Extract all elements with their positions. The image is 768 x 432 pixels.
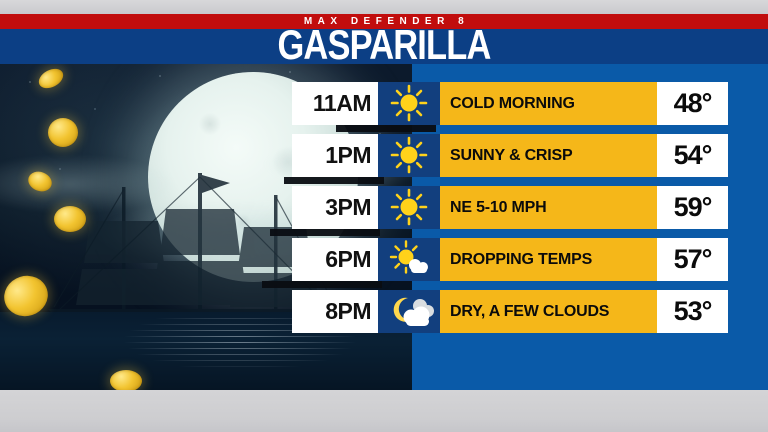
gold-coin [110,370,142,390]
forecast-row: 6PM DROPPING TEMPS 57° [292,238,728,281]
row-temperature: 48° [657,82,728,125]
sunny-icon [378,82,440,125]
row-temperature: 57° [657,238,728,281]
row-shadow [270,229,380,236]
row-description: NE 5-10 MPH [440,186,657,229]
row-icon-cell [378,82,440,125]
forecast-row: 1PM SUNNY & CRISP 54° [292,134,728,177]
gold-coin [48,118,78,147]
page-title: GASPARILLA [69,23,699,67]
row-description: DROPPING TEMPS [440,238,657,281]
row-icon-cell [378,290,440,333]
row-time: 8PM [292,290,378,333]
row-shadow [262,281,382,288]
forecast-row: 11AM COLD MORNING 48° [292,82,728,125]
row-time: 11AM [292,82,378,125]
row-description: COLD MORNING [440,82,657,125]
row-time: 1PM [292,134,378,177]
top-gray-band [0,0,768,14]
row-description: SUNNY & CRISP [440,134,657,177]
row-icon-cell [378,238,440,281]
row-temperature: 54° [657,134,728,177]
row-time: 6PM [292,238,378,281]
forecast-row: 8PM DRY, A FEW CLOUDS 53° [292,290,728,333]
title-bar: GASPARILLA [0,29,768,64]
moon-cloud-icon [378,290,440,333]
row-icon-cell [378,134,440,177]
weather-graphic: MAX DEFENDER 8 GASPARILLA [0,0,768,432]
main-content: 11AM COLD MORNING 48° 1PM [0,64,768,390]
row-time: 3PM [292,186,378,229]
row-icon-cell [378,186,440,229]
forecast-row: 3PM NE 5-10 MPH 59° [292,186,728,229]
sunny-icon [378,134,440,177]
sun-small-cloud-icon [378,238,440,281]
bottom-gray-band [0,390,768,432]
gold-coin [54,206,86,232]
row-temperature: 53° [657,290,728,333]
row-description: DRY, A FEW CLOUDS [440,290,657,333]
row-shadow [284,177,384,184]
row-temperature: 59° [657,186,728,229]
sunny-icon [378,186,440,229]
row-shadow [336,125,436,132]
